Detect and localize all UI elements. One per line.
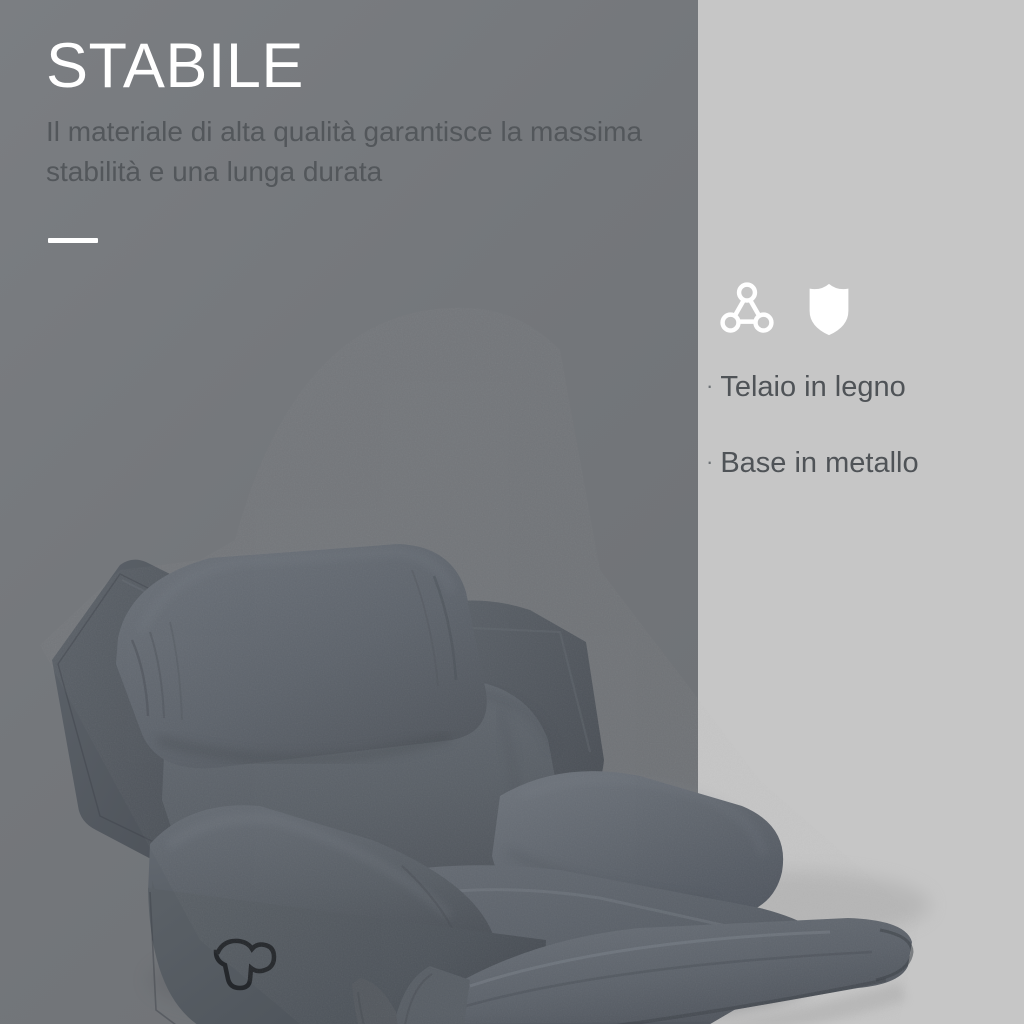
feature-label-base: Base in metallo — [720, 448, 918, 480]
page-title: STABILE — [46, 34, 666, 98]
feature-label-frame: Telaio in legno — [720, 372, 905, 404]
product-feature-banner: STABILE Il materiale di alta qualità gar… — [0, 0, 1024, 1024]
accent-divider — [48, 238, 98, 243]
page-subtitle: Il materiale di alta qualità garantisce … — [46, 112, 656, 192]
bullet-icon: · — [706, 375, 713, 397]
feature-list: · Telaio in legno · Base in metallo — [706, 372, 1006, 524]
bullet-icon: · — [706, 451, 713, 473]
list-item: · Telaio in legno — [706, 372, 1006, 404]
list-item: · Base in metallo — [706, 448, 1006, 480]
headline-block: STABILE Il materiale di alta qualità gar… — [46, 34, 666, 192]
triangle-nodes-icon — [716, 278, 778, 340]
shield-icon — [798, 278, 860, 340]
feature-icon-row — [716, 278, 860, 340]
